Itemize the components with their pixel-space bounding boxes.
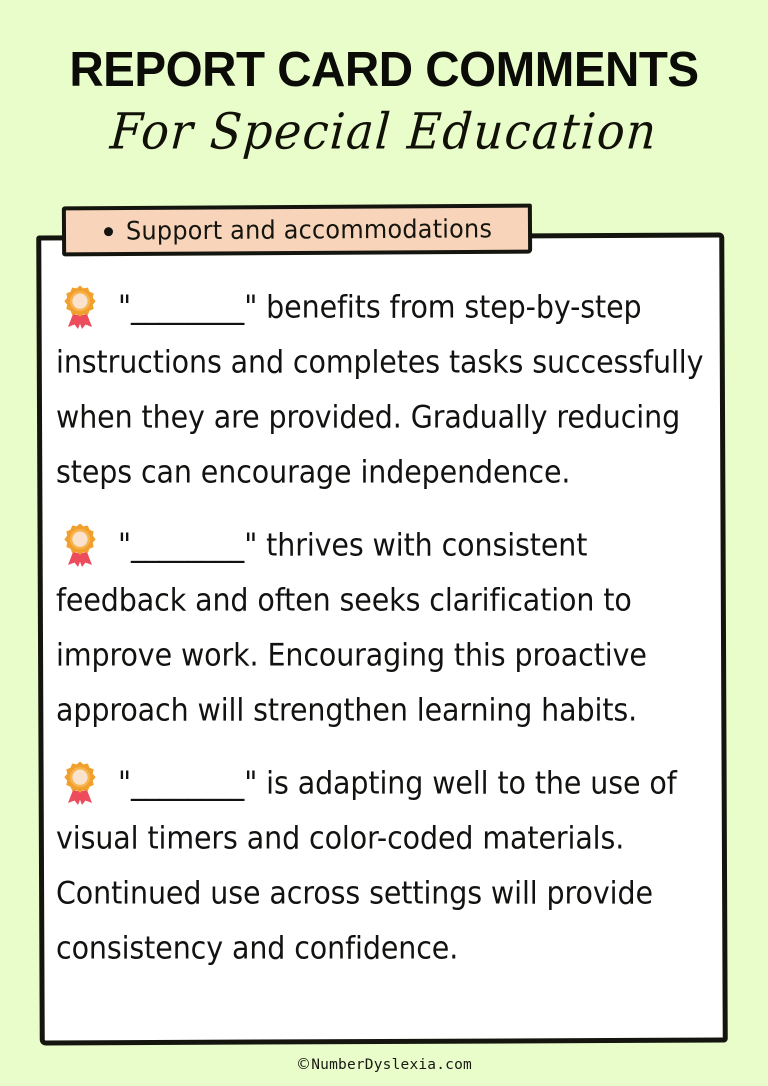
- footer-site: NumberDyslexia.com: [311, 1057, 472, 1073]
- page-subtitle: For Special Education: [0, 100, 768, 163]
- copyright-icon: ©: [296, 1055, 311, 1073]
- page-header: REPORT CARD COMMENTS For Special Educati…: [0, 0, 768, 160]
- list-item: "________" benefits from step-by-step in…: [56, 280, 716, 480]
- footer-attribution: ©NumberDyslexia.com: [296, 1057, 472, 1073]
- comment-text: "________" benefits from step-by-step in…: [56, 280, 716, 500]
- category-banner-label: Support and accommodations: [126, 215, 492, 245]
- comment-text: "________" thrives with consistent feedb…: [56, 518, 716, 738]
- footer: ©NumberDyslexia.com: [0, 1054, 768, 1073]
- comment-list: "________" benefits from step-by-step in…: [56, 280, 716, 994]
- list-item: "________" thrives with consistent feedb…: [56, 518, 716, 718]
- comment-text: "________" is adapting well to the use o…: [56, 756, 716, 976]
- list-item: "________" is adapting well to the use o…: [56, 756, 716, 956]
- page-title: REPORT CARD COMMENTS: [12, 44, 757, 96]
- bullet-dot-icon: [104, 227, 113, 236]
- category-banner: Support and accommodations: [62, 204, 532, 257]
